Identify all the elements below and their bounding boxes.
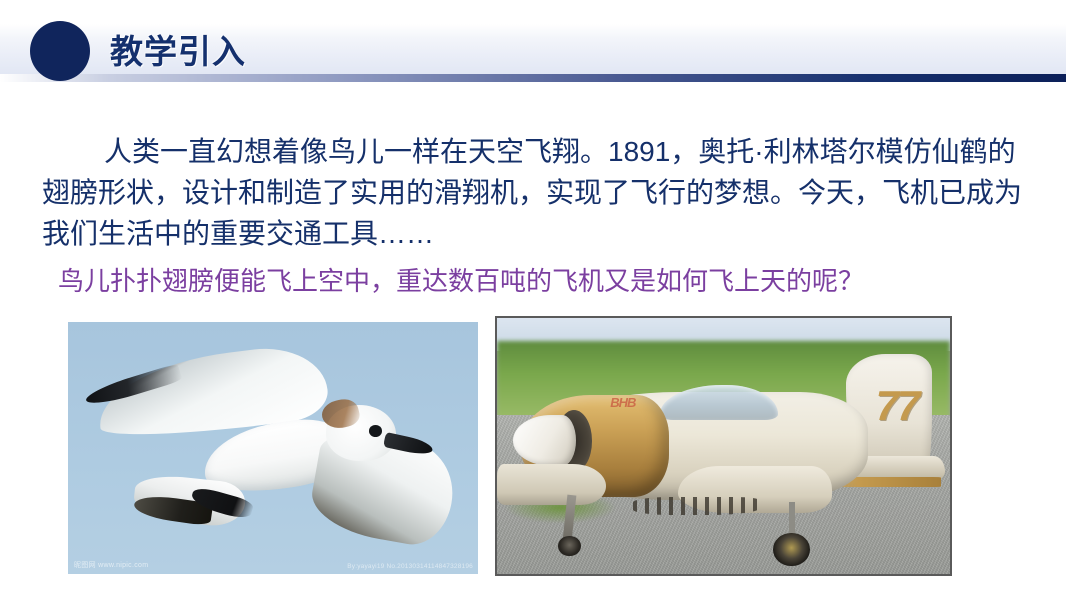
photo-model-airplane: 77 BHB [495,316,952,576]
question-text: 鸟儿扑扑翅膀便能飞上空中，重达数百吨的飞机又是如何飞上天的呢？ [58,262,1043,300]
watermark-site: 昵图网 www.nipic.com [74,560,148,570]
plane-far-wing [497,464,606,505]
intro-paragraph: 人类一直幻想着像鸟儿一样在天空飞翔。1891，奥托·利林塔尔模仿仙鹤的翅膀形状，… [42,131,1032,254]
photo-seagull: 昵图网 www.nipic.com By:yayayi19 No.2013031… [68,322,478,574]
slide-canvas: 教学引入 人类一直幻想着像鸟儿一样在天空飞翔。1891，奥托·利林塔尔模仿仙鹤的… [0,0,1066,600]
header-bullet-circle [30,21,90,81]
plane-nose-wheel [558,536,581,556]
plane-decal-text: BHB [610,395,635,410]
plane-belly-vents [633,497,760,515]
header-divider-rule [0,74,1066,82]
page-title: 教学引入 [110,30,246,74]
plane-tail-number: 77 [876,385,919,427]
watermark-id: By:yayayi19 No.20130314114847328196 [347,563,473,570]
plane-main-wheel [773,533,809,566]
